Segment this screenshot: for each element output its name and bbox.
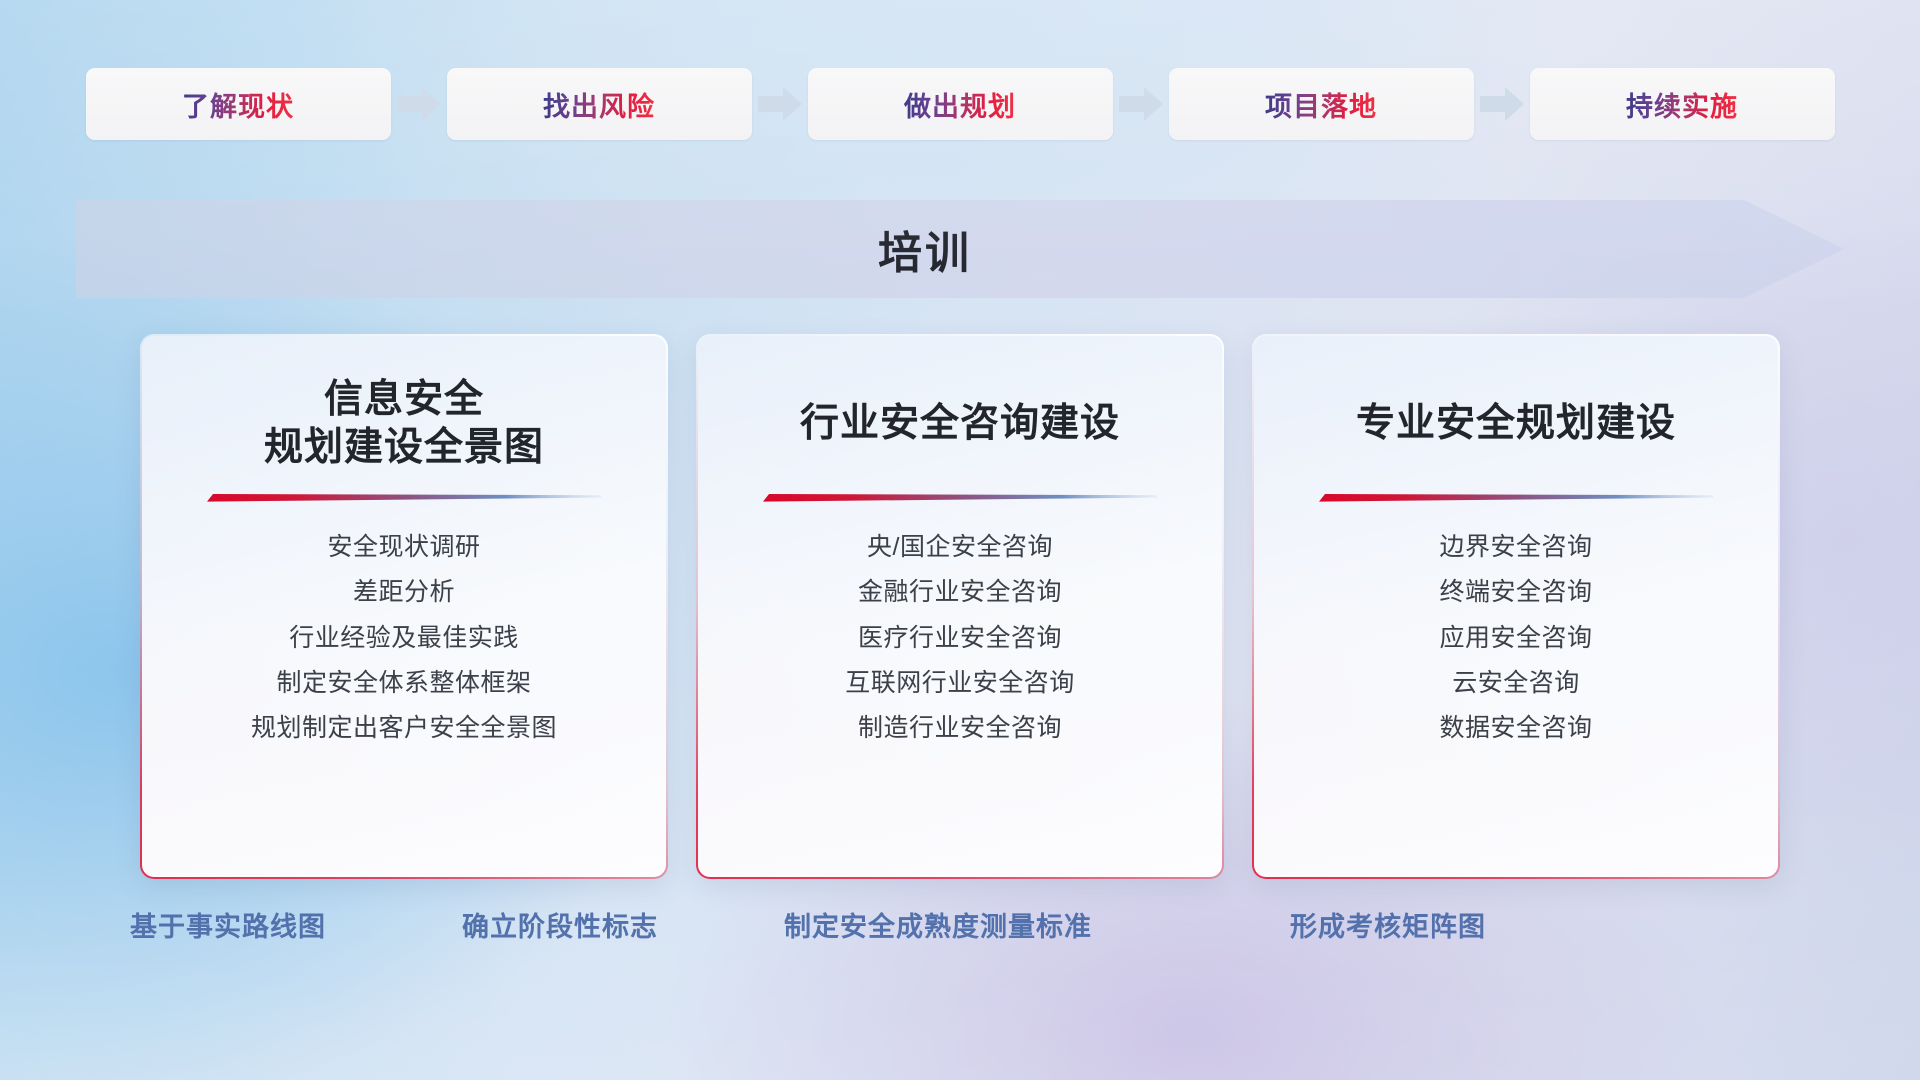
card-1[interactable]: 信息安全 规划建设全景图 [140, 334, 668, 879]
list-item: 规划制定出客户安全全景图 [251, 713, 557, 744]
list-item: 金融行业安全咨询 [858, 577, 1062, 608]
step-arrow-icon-1 [391, 68, 447, 140]
list-item: 制定安全体系整体框架 [276, 668, 531, 699]
card-3-title: 专业安全规划建设 [1356, 376, 1676, 472]
card-1-title-line-1: 信息安全 [264, 376, 544, 424]
card-3-divider-icon [1319, 492, 1713, 504]
step-label-4: 项目落地 [1265, 85, 1377, 124]
step-label-3: 做出规划 [904, 85, 1016, 124]
list-item: 边界安全咨询 [1439, 532, 1592, 563]
step-box-1-inner: 了解现状 [86, 68, 391, 140]
process-step-row: 了解现状 找出风险 做出规划 [0, 68, 1920, 140]
training-banner-title: 培训 [76, 200, 1844, 298]
card-1-title: 信息安全 规划建设全景图 [264, 376, 544, 472]
list-item: 云安全咨询 [1452, 668, 1580, 699]
step-box-5-inner: 持续实施 [1530, 68, 1835, 140]
step-label-1: 了解现状 [182, 85, 294, 124]
card-2-title-line-1: 行业安全咨询建设 [800, 400, 1120, 448]
card-3-title-line-1: 专业安全规划建设 [1356, 400, 1676, 448]
step-label-2: 找出风险 [543, 85, 655, 124]
card-1-title-line-2: 规划建设全景图 [264, 424, 544, 472]
step-box-4[interactable]: 项目落地 [1169, 68, 1474, 140]
step-box-3-inner: 做出规划 [808, 68, 1113, 140]
list-item: 数据安全咨询 [1439, 713, 1592, 744]
card-2-list: 央/国企安全咨询 金融行业安全咨询 医疗行业安全咨询 互联网行业安全咨询 制造行… [845, 532, 1075, 744]
card-1-list: 安全现状调研 差距分析 行业经验及最佳实践 制定安全体系整体框架 规划制定出客户… [251, 532, 557, 744]
bottom-label-2: 确立阶段性标志 [462, 905, 658, 944]
list-item: 互联网行业安全咨询 [845, 668, 1075, 699]
training-banner: 培训 [76, 200, 1844, 298]
slide-canvas: 了解现状 找出风险 做出规划 [0, 0, 1920, 1080]
step-box-4-inner: 项目落地 [1169, 68, 1474, 140]
bottom-label-1: 基于事实路线图 [130, 905, 326, 944]
list-item: 差距分析 [353, 577, 455, 608]
card-2-body: 行业安全咨询建设 [698, 336, 1222, 877]
bottom-label-row: 基于事实路线图 确立阶段性标志 制定安全成熟度测量标准 形成考核矩阵图 [0, 905, 1920, 965]
card-3-body: 专业安全规划建设 [1254, 336, 1778, 877]
card-3[interactable]: 专业安全规划建设 [1252, 334, 1780, 879]
list-item: 应用安全咨询 [1439, 623, 1592, 654]
list-item: 安全现状调研 [327, 532, 480, 563]
step-box-2[interactable]: 找出风险 [447, 68, 752, 140]
list-item: 医疗行业安全咨询 [858, 623, 1062, 654]
card-2[interactable]: 行业安全咨询建设 [696, 334, 1224, 879]
step-box-2-inner: 找出风险 [447, 68, 752, 140]
step-box-5[interactable]: 持续实施 [1530, 68, 1835, 140]
step-arrow-icon-2 [752, 68, 808, 140]
step-arrow-icon-3 [1113, 68, 1169, 140]
card-1-divider-icon [207, 492, 601, 504]
step-box-3[interactable]: 做出规划 [808, 68, 1113, 140]
list-item: 央/国企安全咨询 [867, 532, 1053, 563]
step-box-1[interactable]: 了解现状 [86, 68, 391, 140]
card-row: 信息安全 规划建设全景图 [0, 334, 1920, 879]
bottom-label-3: 制定安全成熟度测量标准 [784, 905, 1092, 944]
list-item: 终端安全咨询 [1439, 577, 1592, 608]
card-2-divider-icon [763, 492, 1157, 504]
list-item: 制造行业安全咨询 [858, 713, 1062, 744]
card-3-list: 边界安全咨询 终端安全咨询 应用安全咨询 云安全咨询 数据安全咨询 [1439, 532, 1592, 744]
step-label-5: 持续实施 [1626, 85, 1738, 124]
step-arrow-icon-4 [1474, 68, 1530, 140]
bottom-label-4: 形成考核矩阵图 [1290, 905, 1486, 944]
card-2-title: 行业安全咨询建设 [800, 376, 1120, 472]
list-item: 行业经验及最佳实践 [289, 623, 519, 654]
card-1-body: 信息安全 规划建设全景图 [142, 336, 666, 877]
